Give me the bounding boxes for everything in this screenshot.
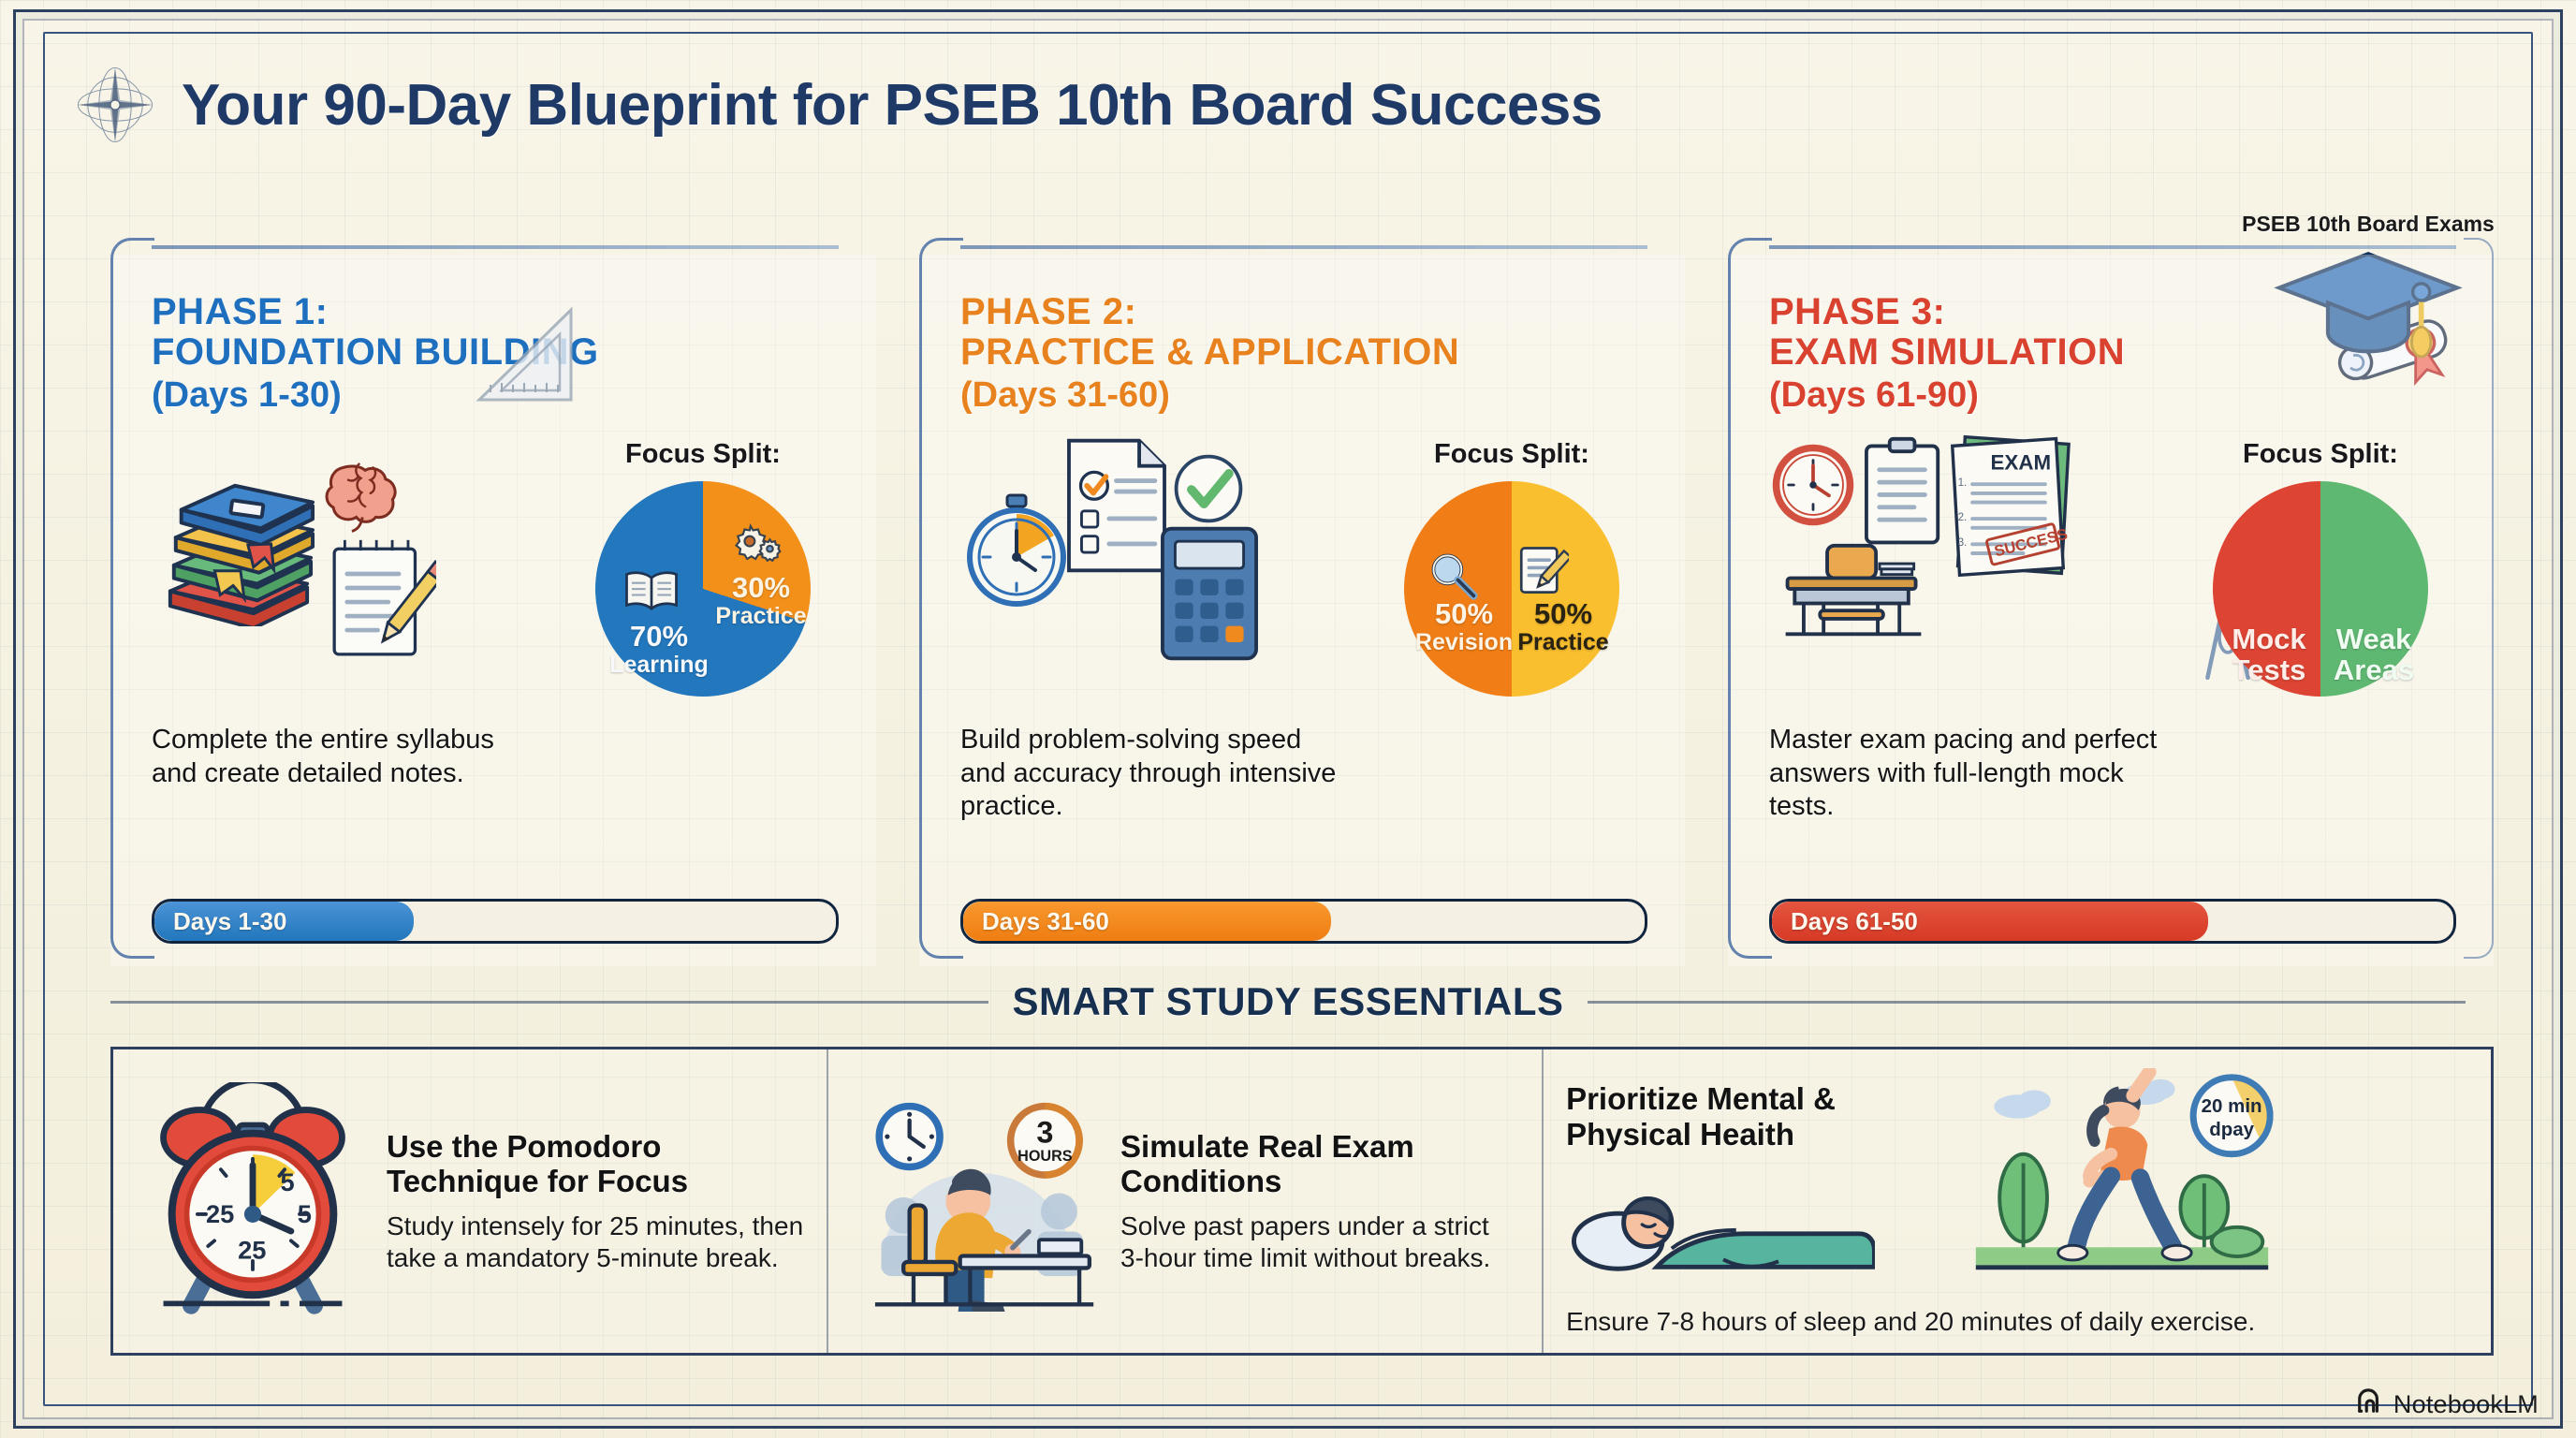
focus-split-label: Focus Split: [1434, 439, 1589, 470]
phase-3-pie-chart: Mock Tests Weak Areas [2213, 481, 2428, 697]
wall-clock-icon [1769, 441, 1857, 534]
pie-1-practice-pct: 30% [711, 573, 811, 604]
phase-2-days: (Days 31-60) [960, 376, 1647, 415]
phase-3-days: (Days 61-90) [1769, 376, 2456, 415]
pie-3-weak-name: Weak Areas [2321, 624, 2426, 685]
exercise-badge-line1: 20 min [2202, 1095, 2262, 1117]
phase-card-3[interactable]: PHASE 3: EXAM SIMULATION (Days 61-90) [1728, 255, 2494, 966]
compass-rose-icon [75, 65, 155, 145]
essentials-section-title: SMART STUDY ESSENTIALS [1013, 979, 1564, 1024]
essential-item-exam-conditions[interactable]: 3 HOURS [827, 1049, 1542, 1353]
phase-1-description: Complete the entire syllabus and create … [152, 724, 545, 790]
sleeping-person-icon [1566, 1271, 1875, 1287]
phase-card-1[interactable]: PHASE 1: FOUNDATION BUILDING (Days 1-30) [110, 255, 876, 966]
phase-2-description: Build problem-solving speed and accuracy… [960, 724, 1354, 823]
essentials-header: SMART STUDY ESSENTIALS [110, 979, 2466, 1024]
phase-2-artwork [960, 439, 1367, 711]
phase-bracket-right [2464, 238, 2494, 959]
phase-1-progress-bar[interactable]: Days 1-30 [152, 899, 839, 944]
notepad-pencil-icon [322, 529, 436, 667]
essential-item-health[interactable]: Prioritize Mental & Physical Heaith [1542, 1049, 2491, 1353]
phase-3-name: EXAM SIMULATION [1769, 332, 2456, 373]
phase-top-rule [1769, 245, 2456, 249]
phase-3-description: Master exam pacing and perfect answers w… [1769, 724, 2162, 823]
essential-2-body: Solve past papers under a strict 3-hour … [1120, 1211, 1519, 1273]
phase-top-rule [960, 245, 1647, 249]
pie-2-practice-pct: 50% [1511, 599, 1616, 630]
student-writing-exam-icon: 3 HOURS [851, 1087, 1104, 1316]
essential-2-heading: Simulate Real Exam Conditions [1120, 1129, 1519, 1199]
note-pencil-icon [1515, 543, 1569, 604]
exercise-badge-line2: dpay [2209, 1119, 2254, 1140]
alarm-clock-icon: 5 25 5 25 [136, 1082, 370, 1321]
pie-1-slice-learning: 70% Learning [601, 622, 717, 677]
phase-3-heading: PHASE 3: EXAM SIMULATION (Days 61-90) [1769, 292, 2456, 415]
header-rule-left [110, 1001, 988, 1004]
svg-text:1.: 1. [1958, 477, 1968, 490]
phase-1-pie-chart: 30% Practice [595, 481, 811, 697]
clock-mark-5-top: 5 [281, 1167, 295, 1196]
gears-icon [732, 522, 783, 566]
essential-1-body: Study intensely for 25 minutes, then tak… [387, 1211, 804, 1273]
pie-2-practice-name: Practice [1511, 630, 1616, 654]
svg-text:2.: 2. [1958, 511, 1968, 523]
exam-badge-label: PSEB 10th Board Exams [2228, 212, 2509, 237]
clock-mark-25-left: 25 [206, 1199, 234, 1228]
exam-paper-icon: EXAM 1.2.3. [1939, 426, 2076, 590]
pie-2-slice-revision: 50% Revision [1412, 599, 1516, 654]
pie-1-slice-practice: 30% Practice [711, 573, 811, 628]
pie-1-learning-name: Learning [601, 653, 717, 677]
essential-1-heading: Use the Pomodoro Technique for Focus [387, 1129, 804, 1199]
phase-card-2[interactable]: PHASE 2: PRACTICE & APPLICATION (Days 31… [919, 255, 1685, 966]
calculator-icon [1155, 521, 1264, 670]
pie-3-slice-weak-areas: Weak Areas [2321, 594, 2426, 715]
essential-2-text: Simulate Real Exam Conditions Solve past… [1120, 1129, 1519, 1273]
essential-3-row: Prioritize Mental & Physical Heaith [1566, 1068, 2468, 1301]
phase-1-body: Focus Split: [152, 439, 839, 720]
pie-1-practice-name: Practice [711, 604, 811, 628]
stopwatch-icon [960, 492, 1073, 618]
set-square-ruler-icon [470, 299, 582, 416]
watermark-label: NotebookLM [2393, 1390, 2539, 1419]
exam-paper-title-text: EXAM [1991, 451, 2052, 475]
focus-split-label: Focus Split: [625, 439, 781, 470]
phase-1-focus-split: Focus Split: [567, 439, 839, 697]
phase-3-progress-label: Days 61-50 [1791, 907, 1918, 936]
phase-2-focus-split: Focus Split: 50% [1376, 439, 1647, 697]
pie-2-revision-pct: 50% [1412, 599, 1516, 630]
notebooklm-logo-icon [2354, 1388, 2384, 1421]
essential-3-caption: Ensure 7-8 hours of sleep and 20 minutes… [1566, 1307, 2468, 1337]
phase-2-pie-chart: 50% Revision [1404, 481, 1619, 697]
desk-chair-icon [1777, 536, 1930, 650]
phase-2-name: PRACTICE & APPLICATION [960, 332, 1647, 373]
phase-bracket-left [110, 238, 154, 959]
infographic-page: Your 90-Day Blueprint for PSEB 10th Boar… [0, 0, 2576, 1438]
phase-top-rule [152, 245, 839, 249]
clock-mark-5-right: 5 [298, 1199, 312, 1228]
notebooklm-watermark: NotebookLM [2354, 1388, 2539, 1421]
phase-3-artwork: EXAM 1.2.3. [1769, 439, 2175, 711]
essential-item-pomodoro[interactable]: 5 25 5 25 Use the Pomodoro Technique for… [113, 1049, 827, 1353]
essential-1-text: Use the Pomodoro Technique for Focus Stu… [387, 1129, 804, 1273]
essential-3-text: Prioritize Mental & Physical Heaith [1566, 1081, 1940, 1287]
phase-bracket-left [1728, 238, 1772, 959]
open-book-icon [622, 567, 681, 617]
title-row: Your 90-Day Blueprint for PSEB 10th Boar… [75, 58, 2501, 152]
pie-3-slice-mock-tests: Mock Tests [2217, 594, 2321, 715]
header-rule-right [1588, 1001, 2466, 1004]
phase-1-progress-fill: Days 1-30 [154, 902, 414, 941]
pie-3-mock-name: Mock Tests [2217, 624, 2321, 685]
phase-3-focus-split: Focus Split: Mock Tests Weak Areas [2185, 439, 2456, 697]
clock-mark-25-bottom: 25 [238, 1235, 266, 1264]
phase-2-heading: PHASE 2: PRACTICE & APPLICATION (Days 31… [960, 292, 1647, 415]
phase-1-progress-label: Days 1-30 [173, 907, 286, 936]
phase-2-progress-fill: Days 31-60 [963, 902, 1331, 941]
phase-3-progress-bar[interactable]: Days 61-50 [1769, 899, 2456, 944]
page-title: Your 90-Day Blueprint for PSEB 10th Boar… [182, 72, 1603, 139]
phase-2-kicker: PHASE 2: [960, 292, 1647, 332]
phases-row: PHASE 1: FOUNDATION BUILDING (Days 1-30) [110, 255, 2494, 966]
focus-split-label: Focus Split: [2243, 439, 2398, 470]
svg-text:3.: 3. [1958, 537, 1968, 550]
phase-bracket-left [919, 238, 963, 959]
phase-3-body: EXAM 1.2.3. [1769, 439, 2456, 720]
phase-2-progress-label: Days 31-60 [982, 907, 1109, 936]
pie-1-learning-pct: 70% [601, 622, 717, 653]
book-stack-icon [159, 469, 316, 631]
phase-2-progress-bar[interactable]: Days 31-60 [960, 899, 1647, 944]
pie-2-slice-practice: 50% Practice [1511, 599, 1616, 654]
phase-1-artwork [152, 439, 558, 711]
pie-2-revision-name: Revision [1412, 630, 1516, 654]
hours-badge-number: 3 [1036, 1115, 1053, 1149]
hours-badge-unit: HOURS [1017, 1147, 1073, 1164]
essentials-panel: 5 25 5 25 Use the Pomodoro Technique for… [110, 1047, 2494, 1356]
phase-2-body: Focus Split: 50% [960, 439, 1647, 720]
phase-3-kicker: PHASE 3: [1769, 292, 2456, 332]
phase-3-progress-fill: Days 61-50 [1772, 902, 2208, 941]
stretching-person-icon: 20 min dpay [1954, 1068, 2291, 1301]
essential-3-heading: Prioritize Mental & Physical Heaith [1566, 1081, 1940, 1152]
